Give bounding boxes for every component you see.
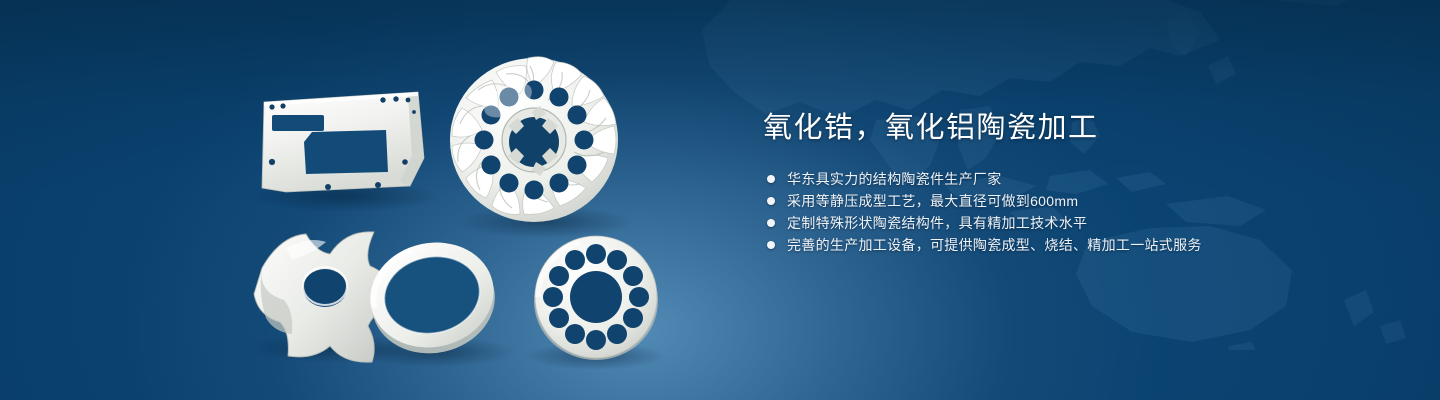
bullet-dot-icon [767, 197, 775, 205]
bullet-dot-icon [767, 219, 775, 227]
product-photo-cluster [0, 0, 700, 400]
feature-text: 华东具实力的结构陶瓷件生产厂家 [787, 168, 1002, 190]
ceramic-perforated-disc [534, 236, 658, 360]
ceramic-machined-plate [262, 92, 424, 192]
bullet-dot-icon [767, 175, 775, 183]
bullet-dot-icon [767, 241, 775, 249]
banner-copy: 氧化锆，氧化铝陶瓷加工 华东具实力的结构陶瓷件生产厂家 采用等静压成型工艺，最大… [763, 108, 1383, 256]
list-item: 采用等静压成型工艺，最大直径可做到600mm [763, 190, 1383, 212]
page-title: 氧化锆，氧化铝陶瓷加工 [763, 108, 1383, 148]
ceramic-impeller-vaned-disc [450, 57, 618, 222]
feature-text: 定制特殊形状陶瓷结构件，具有精加工技术水平 [787, 212, 1087, 234]
feature-list: 华东具实力的结构陶瓷件生产厂家 采用等静压成型工艺，最大直径可做到600mm 定… [763, 168, 1383, 256]
list-item: 定制特殊形状陶瓷结构件，具有精加工技术水平 [763, 212, 1383, 234]
promo-banner: 氧化锆，氧化铝陶瓷加工 华东具实力的结构陶瓷件生产厂家 采用等静压成型工艺，最大… [0, 0, 1440, 400]
feature-text: 完善的生产加工设备，可提供陶瓷成型、烧结、精加工一站式服务 [787, 234, 1202, 256]
feature-text: 采用等静压成型工艺，最大直径可做到600mm [787, 190, 1078, 212]
list-item: 完善的生产加工设备，可提供陶瓷成型、烧结、精加工一站式服务 [763, 234, 1383, 256]
list-item: 华东具实力的结构陶瓷件生产厂家 [763, 168, 1383, 190]
